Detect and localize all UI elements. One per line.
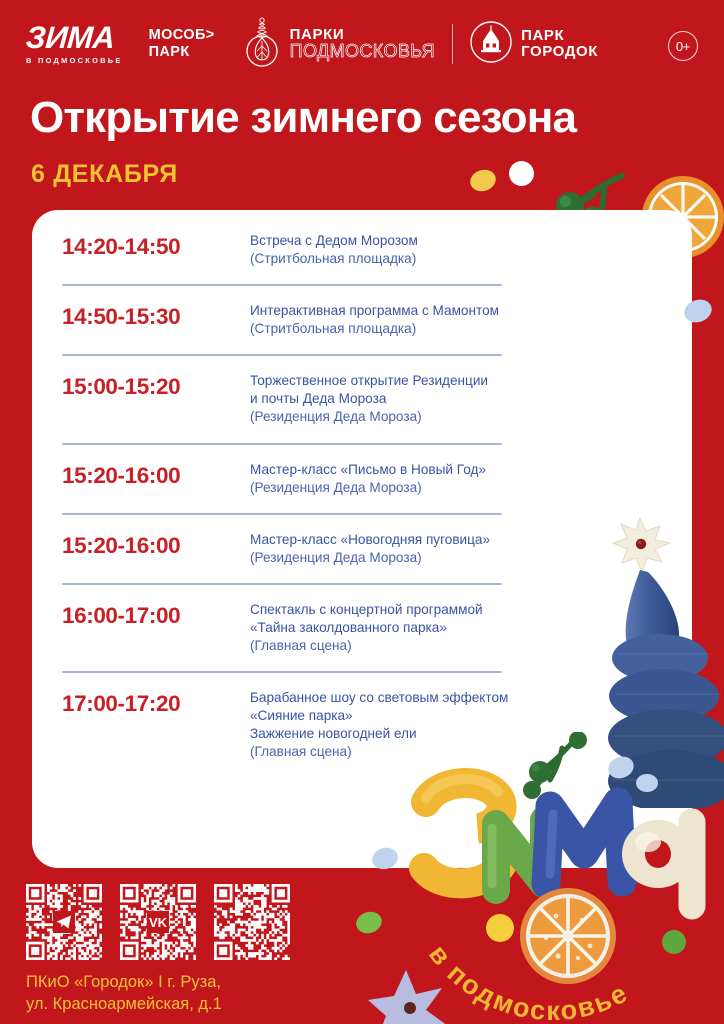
logo-mosoblpark: МОСОБ> ПАРК bbox=[149, 27, 215, 60]
vk-icon: VK bbox=[147, 911, 169, 933]
schedule-row-line: «Сияние парка» bbox=[250, 707, 508, 725]
schedule-row-description: Мастер-класс «Письмо в Новый Год»(Резиде… bbox=[250, 461, 486, 497]
schedule-separator bbox=[62, 671, 502, 673]
schedule-row-line: Встреча с Дедом Морозом bbox=[250, 232, 418, 250]
logo-parki-line1: ПАРКИ bbox=[290, 27, 435, 43]
schedule-row-line: Торжественное открытие Резиденции bbox=[250, 372, 488, 390]
schedule-row-time: 17:00-17:20 bbox=[62, 689, 250, 717]
schedule-row-description: Барабанное шоу со световым эффектом«Сиян… bbox=[250, 689, 508, 761]
white-dot-decor bbox=[509, 161, 534, 186]
schedule-row-venue: (Резиденция Деда Мороза) bbox=[250, 408, 488, 426]
schedule-row-venue: (Резиденция Деда Мороза) bbox=[250, 549, 490, 567]
venue-address: ПКиО «Городок» I г. Руза, ул. Красноарме… bbox=[26, 972, 222, 1016]
logo-mosoblpark-line2: ПАРК bbox=[149, 44, 215, 61]
schedule-row-time: 15:00-15:20 bbox=[62, 372, 250, 400]
zima-caption: в подмосковье bbox=[423, 939, 633, 1024]
schedule-row-line: и почты Деда Мороза bbox=[250, 390, 488, 408]
schedule-row-description: Торжественное открытие Резиденциии почты… bbox=[250, 372, 488, 426]
schedule-row-line: «Тайна заколдованного парка» bbox=[250, 619, 483, 637]
schedule-row-venue: (Главная сцена) bbox=[250, 743, 508, 761]
logo-gorodok-line2: ГОРОДОК bbox=[521, 44, 598, 60]
schedule-row-venue: (Стритбольная площадка) bbox=[250, 250, 418, 268]
logo-mosoblpark-line1: МОСОБ> bbox=[149, 27, 215, 44]
telegram-icon bbox=[53, 911, 75, 933]
schedule-row-line: Барабанное шоу со световым эффектом bbox=[250, 689, 508, 707]
schedule-list: 14:20-14:50Встреча с Дедом Морозом(Стрит… bbox=[62, 232, 662, 761]
logo-zima-main: ЗИМА bbox=[25, 23, 115, 52]
schedule-row-venue: (Стритбольная площадка) bbox=[250, 320, 499, 338]
pavilion-badge-icon bbox=[470, 21, 512, 68]
svg-text:VK: VK bbox=[149, 915, 168, 930]
yellow-dot-decor bbox=[467, 166, 498, 194]
logo-zima-sub: в подмосковье bbox=[26, 56, 123, 65]
venue-address-line1: ПКиО «Городок» I г. Руза, bbox=[26, 972, 222, 994]
schedule-separator bbox=[62, 354, 502, 356]
schedule-row-time: 16:00-17:00 bbox=[62, 601, 250, 629]
schedule-row-time: 15:20-16:00 bbox=[62, 461, 250, 489]
schedule-row-line: Мастер-класс «Письмо в Новый Год» bbox=[250, 461, 486, 479]
age-rating-badge: 0+ bbox=[668, 31, 698, 61]
schedule-separator bbox=[62, 583, 502, 585]
logo-gorodok-line1: ПАРК bbox=[521, 28, 598, 44]
schedule-row-line: Зажжение новогодней ели bbox=[250, 725, 508, 743]
fir-tree-ornament-icon bbox=[243, 16, 281, 73]
poster-root: ЗИМА в подмосковье МОСОБ> ПАРК bbox=[0, 0, 724, 1024]
website-qr[interactable] bbox=[214, 884, 290, 960]
schedule-row-time: 15:20-16:00 bbox=[62, 531, 250, 559]
yellow-dot-decor bbox=[486, 914, 514, 942]
venue-address-line2: ул. Красноармейская, д.1 bbox=[26, 994, 222, 1016]
green-dot-decor bbox=[353, 908, 384, 936]
logo-parki-line2: ПОДМОСКОВЬЯ bbox=[290, 42, 435, 61]
schedule-row-line: Спектакль с концертной программой bbox=[250, 601, 483, 619]
green-dot-decor bbox=[662, 930, 686, 954]
schedule-row-description: Мастер-класс «Новогодняя пуговица»(Резид… bbox=[250, 531, 490, 567]
schedule-row: 15:20-16:00Мастер-класс «Новогодняя пуго… bbox=[62, 531, 662, 567]
svg-text:в подмосковье: в подмосковье bbox=[423, 939, 633, 1024]
schedule-row-description: Спектакль с концертной программой«Тайна … bbox=[250, 601, 483, 655]
schedule-row: 14:50-15:30Интерактивная программа с Мам… bbox=[62, 302, 662, 338]
schedule-row-description: Встреча с Дедом Морозом(Стритбольная пло… bbox=[250, 232, 418, 268]
schedule-row: 16:00-17:00Спектакль с концертной програ… bbox=[62, 601, 662, 655]
schedule-row-time: 14:50-15:30 bbox=[62, 302, 250, 330]
telegram-qr[interactable] bbox=[26, 884, 102, 960]
schedule-row: 14:20-14:50Встреча с Дедом Морозом(Стрит… bbox=[62, 232, 662, 268]
schedule-row-time: 14:20-14:50 bbox=[62, 232, 250, 260]
schedule-row-description: Интерактивная программа с Мамонтом(Стрит… bbox=[250, 302, 499, 338]
purple-star-icon bbox=[366, 968, 452, 1024]
schedule-row-venue: (Главная сцена) bbox=[250, 637, 483, 655]
schedule-separator bbox=[62, 284, 502, 286]
event-date: 6 ДЕКАБРЯ bbox=[31, 160, 178, 189]
logo-parki-podmoskovia: ПАРКИ ПОДМОСКОВЬЯ bbox=[243, 16, 435, 73]
schedule-row-line: Интерактивная программа с Мамонтом bbox=[250, 302, 499, 320]
vk-qr[interactable]: VK bbox=[120, 884, 196, 960]
schedule-separator bbox=[62, 513, 502, 515]
schedule-row: 17:00-17:20Барабанное шоу со световым эф… bbox=[62, 689, 662, 761]
qr-codes-group: VK bbox=[26, 884, 290, 960]
schedule-row-line: Мастер-класс «Новогодняя пуговица» bbox=[250, 531, 490, 549]
schedule-row: 15:20-16:00Мастер-класс «Письмо в Новый … bbox=[62, 461, 662, 497]
page-title: Открытие зимнего сезона bbox=[30, 96, 710, 140]
schedule-row-venue: (Резиденция Деда Мороза) bbox=[250, 479, 486, 497]
logo-park-gorodok: ПАРК ГОРОДОК bbox=[470, 21, 598, 68]
logo-zima-v-podmoskovie: ЗИМА в подмосковье bbox=[26, 23, 123, 64]
schedule-row: 15:00-15:20Торжественное открытие Резиде… bbox=[62, 372, 662, 426]
poster-header: ЗИМА в подмосковье МОСОБ> ПАРК bbox=[0, 0, 724, 88]
header-divider bbox=[452, 24, 453, 64]
schedule-separator bbox=[62, 443, 502, 445]
